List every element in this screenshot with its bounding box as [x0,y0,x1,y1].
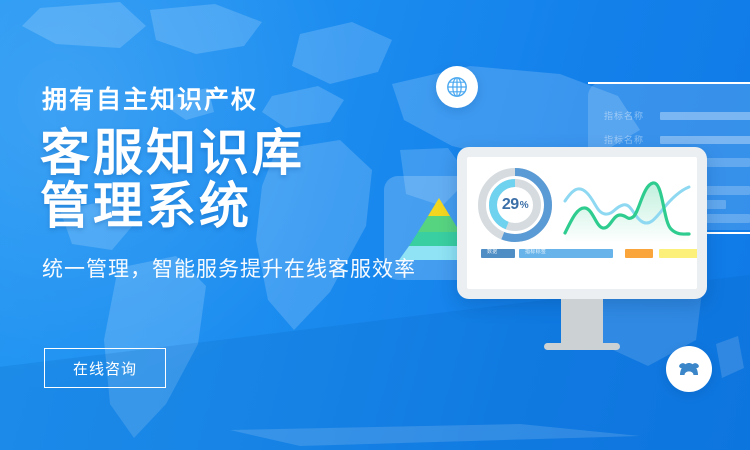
headline-block: 拥有自主知识产权 客服知识库 管理系统 统一管理，智能服务提升在线客服效率 [40,88,470,283]
metric-label-2: 指标名称 [604,136,644,145]
promo-banner: 指标名称 指标名称 [0,0,750,450]
page-title: 客服知识库 管理系统 [40,127,470,233]
donut-value: 29 [502,196,519,214]
trend-line-chart [563,171,691,243]
telephone-icon-button[interactable] [666,346,712,392]
desktop-monitor: 29% [457,147,707,350]
metric-bar-1 [660,112,750,120]
online-consult-button[interactable]: 在线咨询 [44,348,166,388]
monitor-foot [544,343,620,350]
donut-unit: % [520,200,528,211]
metric-bar-2 [660,136,750,144]
mini-bar-dark-blue-text: 数据 [487,250,498,255]
eyebrow-text: 拥有自主知识产权 [42,88,470,113]
headline-line-2: 管理系统 [40,180,470,233]
monitor-screen: 29% [467,157,697,289]
headline-line-1: 客服知识库 [40,127,470,180]
monitor-neck [561,299,603,343]
monitor-bezel: 29% [457,147,707,299]
telephone-icon [676,356,702,382]
mini-bar-orange [625,249,653,258]
mini-bar-yellow [659,249,697,258]
metric-label-1: 指标名称 [604,112,644,121]
mini-bar-light-blue-text: 指标标签 [525,250,546,255]
donut-center-label: 29% [475,165,555,245]
subheadline-text: 统一管理，智能服务提升在线客服效率 [42,253,470,283]
